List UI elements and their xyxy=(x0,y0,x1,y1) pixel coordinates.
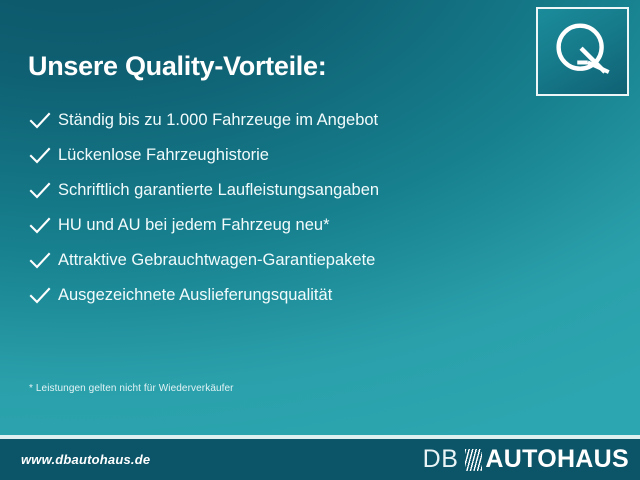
list-item: Ausgezeichnete Auslieferungsqualität xyxy=(28,278,528,313)
list-item-label: HU und AU bei jedem Fahrzeug neu* xyxy=(54,217,330,234)
list-item: Lückenlose Fahrzeughistorie xyxy=(28,138,528,173)
list-item: Attraktive Gebrauchtwagen-Garantiepakete xyxy=(28,243,528,278)
brand-prefix-label: DB xyxy=(423,447,459,472)
checkmark-icon xyxy=(28,146,54,166)
list-item: Schriftlich garantierte Laufleistungsang… xyxy=(28,173,528,208)
list-item-label: Ständig bis zu 1.000 Fahrzeuge im Angebo… xyxy=(54,112,378,129)
checkmark-icon xyxy=(28,111,54,131)
checkmark-icon xyxy=(28,251,54,271)
quality-benefits-banner: Unsere Quality-Vorteile: Ständig bis zu … xyxy=(0,0,640,480)
brand-stripes-icon xyxy=(465,449,482,471)
quality-q-logo-icon xyxy=(538,9,627,94)
list-item-label: Attraktive Gebrauchtwagen-Garantiepakete xyxy=(54,252,375,269)
list-item: Ständig bis zu 1.000 Fahrzeuge im Angebo… xyxy=(28,103,528,138)
checkmark-icon xyxy=(28,286,54,306)
checkmark-icon xyxy=(28,216,54,236)
footnote-text: * Leistungen gelten nicht für Wiederverk… xyxy=(29,383,234,394)
list-item-label: Lückenlose Fahrzeughistorie xyxy=(54,147,269,164)
page-title: Unsere Quality-Vorteile: xyxy=(28,51,326,82)
benefits-list: Ständig bis zu 1.000 Fahrzeuge im Angebo… xyxy=(28,103,528,313)
website-url[interactable]: www.dbautohaus.de xyxy=(21,452,150,467)
list-item-label: Ausgezeichnete Auslieferungsqualität xyxy=(54,287,332,304)
list-item-label: Schriftlich garantierte Laufleistungsang… xyxy=(54,182,379,199)
quality-logo-box xyxy=(536,7,629,96)
brand-logo: DB AUTOHAUS xyxy=(423,444,629,475)
footer-bar: www.dbautohaus.de DB AUTOHAUS xyxy=(0,439,640,480)
list-item: HU und AU bei jedem Fahrzeug neu* xyxy=(28,208,528,243)
checkmark-icon xyxy=(28,181,54,201)
brand-name-label: AUTOHAUS xyxy=(485,447,629,472)
